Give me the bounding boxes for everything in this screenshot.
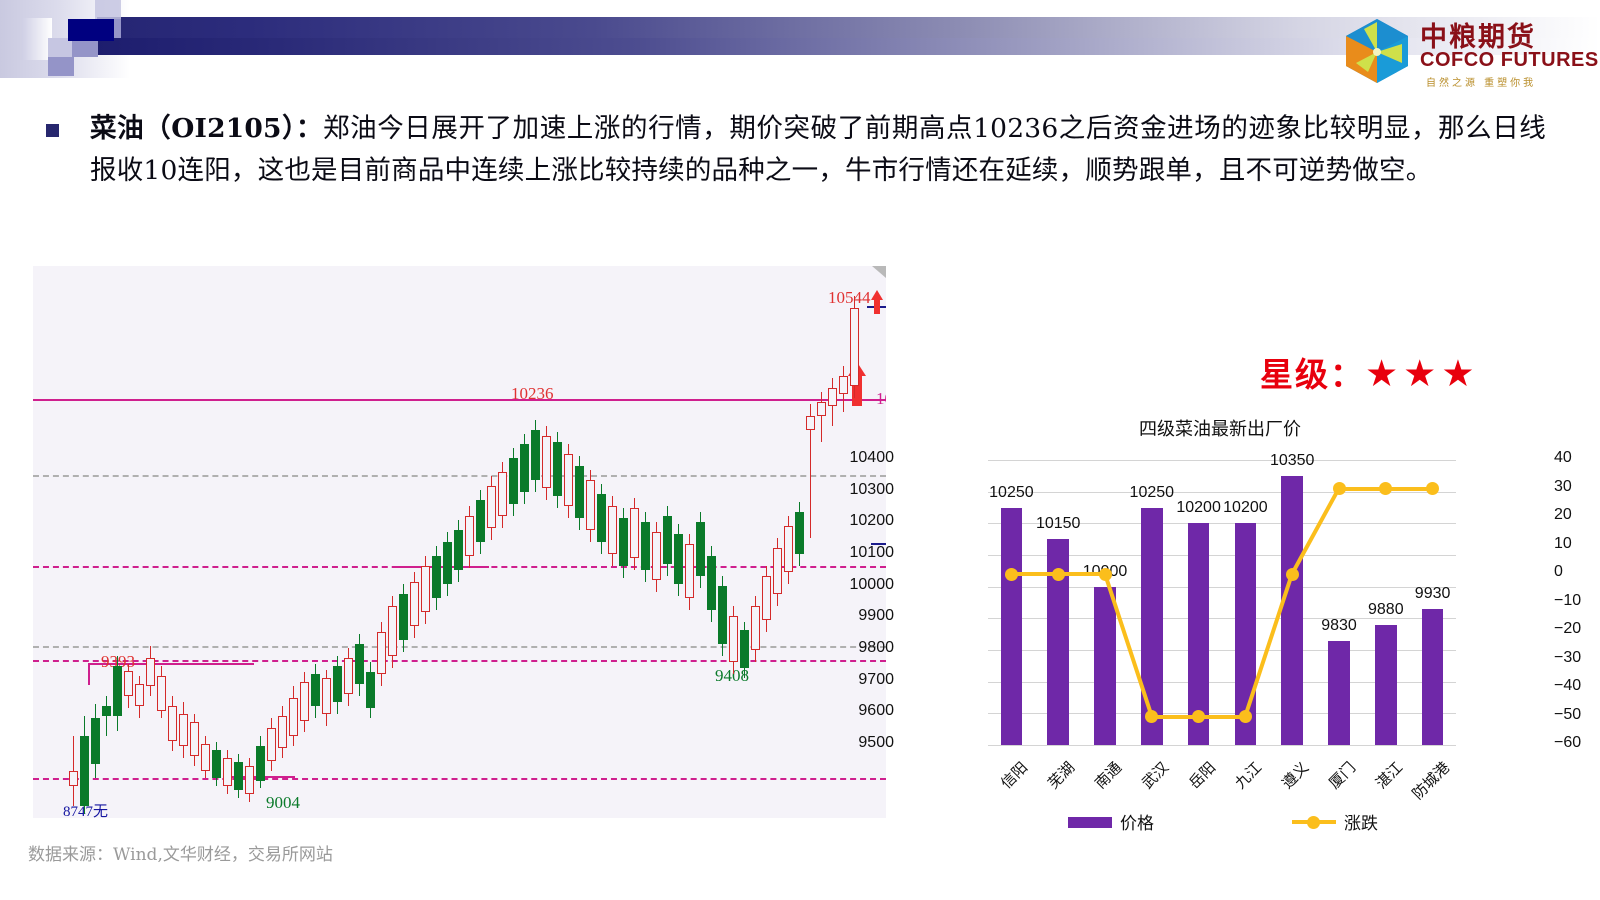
- candle-body: [619, 518, 628, 566]
- y-axis-tick-right: −40: [1554, 677, 1600, 695]
- candle-body: [344, 658, 353, 694]
- y-axis-tick-left: 9600: [824, 702, 894, 720]
- candle-body: [267, 728, 276, 761]
- candle-body: [784, 526, 793, 572]
- candle-body: [597, 494, 606, 542]
- candle-body: [850, 308, 859, 386]
- y-axis-tick-left: 9900: [824, 607, 894, 625]
- y-axis-tick-left: 9500: [824, 734, 894, 752]
- bar-防城港[interactable]: [1422, 609, 1444, 745]
- y-axis-tick-right: −50: [1554, 706, 1600, 724]
- commentary-title: 菜油（OI2105）：: [90, 113, 323, 144]
- candle-body: [476, 500, 485, 542]
- y-axis-tick-left: 10300: [824, 481, 894, 499]
- line-point-岳阳[interactable]: [1192, 710, 1205, 723]
- candle-body: [740, 630, 749, 668]
- y-axis-tick-right: 20: [1554, 506, 1600, 524]
- level-line-10236: [33, 399, 886, 401]
- line-point-九江[interactable]: [1239, 710, 1252, 723]
- candle-body: [509, 458, 518, 504]
- candle-body: [806, 416, 815, 430]
- y-axis-tick-right: −10: [1554, 592, 1600, 610]
- candle-body: [410, 582, 419, 626]
- candle-body: [630, 508, 639, 558]
- candle-body: [69, 771, 78, 786]
- panel-corner-marker: [872, 266, 886, 278]
- candle-body: [201, 744, 210, 771]
- candle-body: [333, 666, 342, 702]
- y-axis-tick-right: −60: [1554, 734, 1600, 752]
- star-rating-glyphs: ★★★: [1365, 352, 1480, 395]
- candle-body: [223, 758, 232, 786]
- level-line-9408: [33, 660, 886, 662]
- candle-body: [498, 472, 507, 516]
- y-axis-tick-right: 30: [1554, 478, 1600, 496]
- bar-value-label: 9930: [1401, 585, 1465, 603]
- bracket-9393-left: [88, 663, 90, 685]
- line-point-芜湖[interactable]: [1052, 568, 1065, 581]
- candle-body: [421, 566, 430, 612]
- cofco-cube-icon: [1342, 16, 1412, 86]
- candle-body: [575, 466, 584, 518]
- legend-label-price: 价格: [1120, 809, 1154, 834]
- label-right-10236: 10236: [876, 389, 886, 409]
- arrow-up-small-head-icon: [871, 290, 883, 300]
- legend-swatch-change-dot: [1307, 816, 1320, 829]
- data-source-note: 数据来源：Wind,文华财经，交易所网站: [28, 840, 333, 865]
- candle-body: [696, 522, 705, 576]
- candle-body: [751, 606, 760, 650]
- candle-body: [157, 676, 166, 711]
- chart-title: 四级菜油最新出厂价: [900, 415, 1540, 441]
- candle-body: [608, 506, 617, 554]
- label-peak-10236: 10236: [511, 384, 554, 404]
- legend-label-change: 涨跌: [1344, 809, 1378, 834]
- candle-body: [685, 544, 694, 598]
- candle-wick: [821, 392, 822, 442]
- logo-tagline: 自然之源 重塑你我: [1426, 74, 1536, 89]
- candle-body: [443, 542, 452, 584]
- line-point-厦门[interactable]: [1333, 482, 1346, 495]
- candle-body: [641, 522, 650, 570]
- bar-value-label: 9830: [1307, 617, 1371, 635]
- candle-body: [839, 376, 848, 394]
- bar-信阳[interactable]: [1001, 508, 1023, 746]
- bar-value-label: 9880: [1354, 601, 1418, 619]
- candle-body: [124, 671, 133, 696]
- square-bullet-icon: [46, 124, 59, 137]
- bar-遵义[interactable]: [1281, 476, 1303, 745]
- candle-body: [399, 594, 408, 640]
- candle-body: [652, 532, 661, 580]
- chart-gridline: [988, 745, 1456, 746]
- candle-body: [388, 606, 397, 656]
- candle-body: [465, 516, 474, 556]
- candle-body: [454, 530, 463, 570]
- y-axis-tick-left: 10100: [824, 544, 894, 562]
- candle-body: [718, 586, 727, 644]
- line-point-信阳[interactable]: [1005, 568, 1018, 581]
- candle-body: [531, 430, 540, 480]
- y-axis-tick-right: 40: [1554, 449, 1600, 467]
- bar-value-label: 10150: [1026, 515, 1090, 533]
- header-square-navy: [68, 19, 114, 41]
- candle-body: [366, 672, 375, 708]
- level-line-dashed-bottom: [33, 778, 886, 780]
- factory-price-chart[interactable]: 四级菜油最新出厂价 104001030010200101001000099009…: [900, 405, 1540, 855]
- header-square-lavender-6: [48, 57, 74, 76]
- candle-body: [311, 674, 320, 706]
- candle-body: [179, 714, 188, 746]
- candle-body: [663, 516, 672, 564]
- label-low-9004: 9004: [266, 793, 300, 813]
- chart-plot-area: 1040010300102001010010000990098009700960…: [988, 460, 1456, 745]
- candle-body: [674, 534, 683, 584]
- y-axis-tick-right: 0: [1554, 563, 1600, 581]
- candle-body: [828, 388, 837, 406]
- chart-legend: 价格 涨跌: [900, 805, 1540, 835]
- bar-南通[interactable]: [1094, 587, 1116, 745]
- bar-value-label: 10200: [1213, 499, 1277, 517]
- candle-body: [520, 444, 529, 492]
- candle-body: [245, 766, 254, 794]
- candle-body: [212, 750, 221, 778]
- candlestick-chart[interactable]: 10544 10236 10236 9393 9004 9408 8747无: [33, 266, 886, 818]
- candle-body: [795, 512, 804, 554]
- candle-wick: [106, 696, 107, 736]
- candle-body: [146, 658, 155, 686]
- bar-value-label: 10250: [979, 484, 1043, 502]
- y-axis-tick-left: 10400: [824, 449, 894, 467]
- candle-body: [135, 684, 144, 706]
- candle-body: [817, 402, 826, 416]
- label-high-10544: 10544: [828, 288, 871, 308]
- candle-body: [432, 556, 441, 598]
- candle-body: [773, 548, 782, 594]
- candle-body: [564, 454, 573, 506]
- candle-body: [542, 436, 551, 488]
- y-axis-tick-left: 9700: [824, 671, 894, 689]
- candle-body: [762, 576, 771, 620]
- header-square-lavender-1: [95, 0, 121, 19]
- chart-gridline: [988, 460, 1456, 461]
- arrow-up-small-shaft-icon: [874, 300, 880, 314]
- candle-body: [377, 632, 386, 674]
- logo-english-name: COFCO FUTURES: [1420, 49, 1599, 72]
- candle-body: [355, 644, 364, 684]
- cofco-logo: 中粮期货 COFCO FUTURES 自然之源 重塑你我: [1342, 12, 1592, 92]
- bar-湛江[interactable]: [1375, 625, 1397, 745]
- candle-body: [487, 486, 496, 528]
- candle-body: [113, 666, 122, 716]
- star-rating-label: 星级：: [1260, 355, 1365, 394]
- candle-body: [234, 762, 243, 790]
- candle-body: [300, 682, 309, 721]
- y-axis-tick-right: −30: [1554, 649, 1600, 667]
- y-axis-tick-right: 10: [1554, 535, 1600, 553]
- candle-body: [190, 722, 199, 756]
- commentary-block: 菜油（OI2105）：郑油今日展开了加速上涨的行情，期价突破了前期高点10236…: [46, 108, 1546, 192]
- candle-body: [80, 736, 89, 806]
- bracket-mid-level: [393, 566, 489, 568]
- gridline-dashed-upper: [33, 475, 886, 477]
- star-rating: 星级：★★★: [1260, 348, 1480, 396]
- y-axis-tick-left: 10200: [824, 512, 894, 530]
- y-axis-tick-left: 9800: [824, 639, 894, 657]
- candle-body: [278, 716, 287, 748]
- line-point-遵义[interactable]: [1286, 568, 1299, 581]
- candle-body: [553, 442, 562, 496]
- legend-swatch-price: [1068, 817, 1112, 828]
- y-axis-tick-right: −20: [1554, 620, 1600, 638]
- candle-body: [91, 718, 100, 764]
- y-axis-tick-left: 10000: [824, 576, 894, 594]
- candle-body: [707, 556, 716, 610]
- line-point-防城港[interactable]: [1426, 482, 1439, 495]
- candle-body: [322, 678, 331, 714]
- candle-body: [168, 706, 177, 741]
- line-segment: [1058, 572, 1105, 576]
- candle-body: [729, 616, 738, 662]
- line-point-湛江[interactable]: [1379, 482, 1392, 495]
- bar-value-label: 10350: [1260, 452, 1324, 470]
- bar-厦门[interactable]: [1328, 641, 1350, 746]
- line-point-南通[interactable]: [1099, 568, 1112, 581]
- candle-body: [586, 480, 595, 530]
- candle-body: [102, 706, 111, 716]
- candle-body: [289, 698, 298, 736]
- commentary-paragraph: 菜油（OI2105）：郑油今日展开了加速上涨的行情，期价突破了前期高点10236…: [90, 108, 1546, 192]
- candle-body: [256, 746, 265, 781]
